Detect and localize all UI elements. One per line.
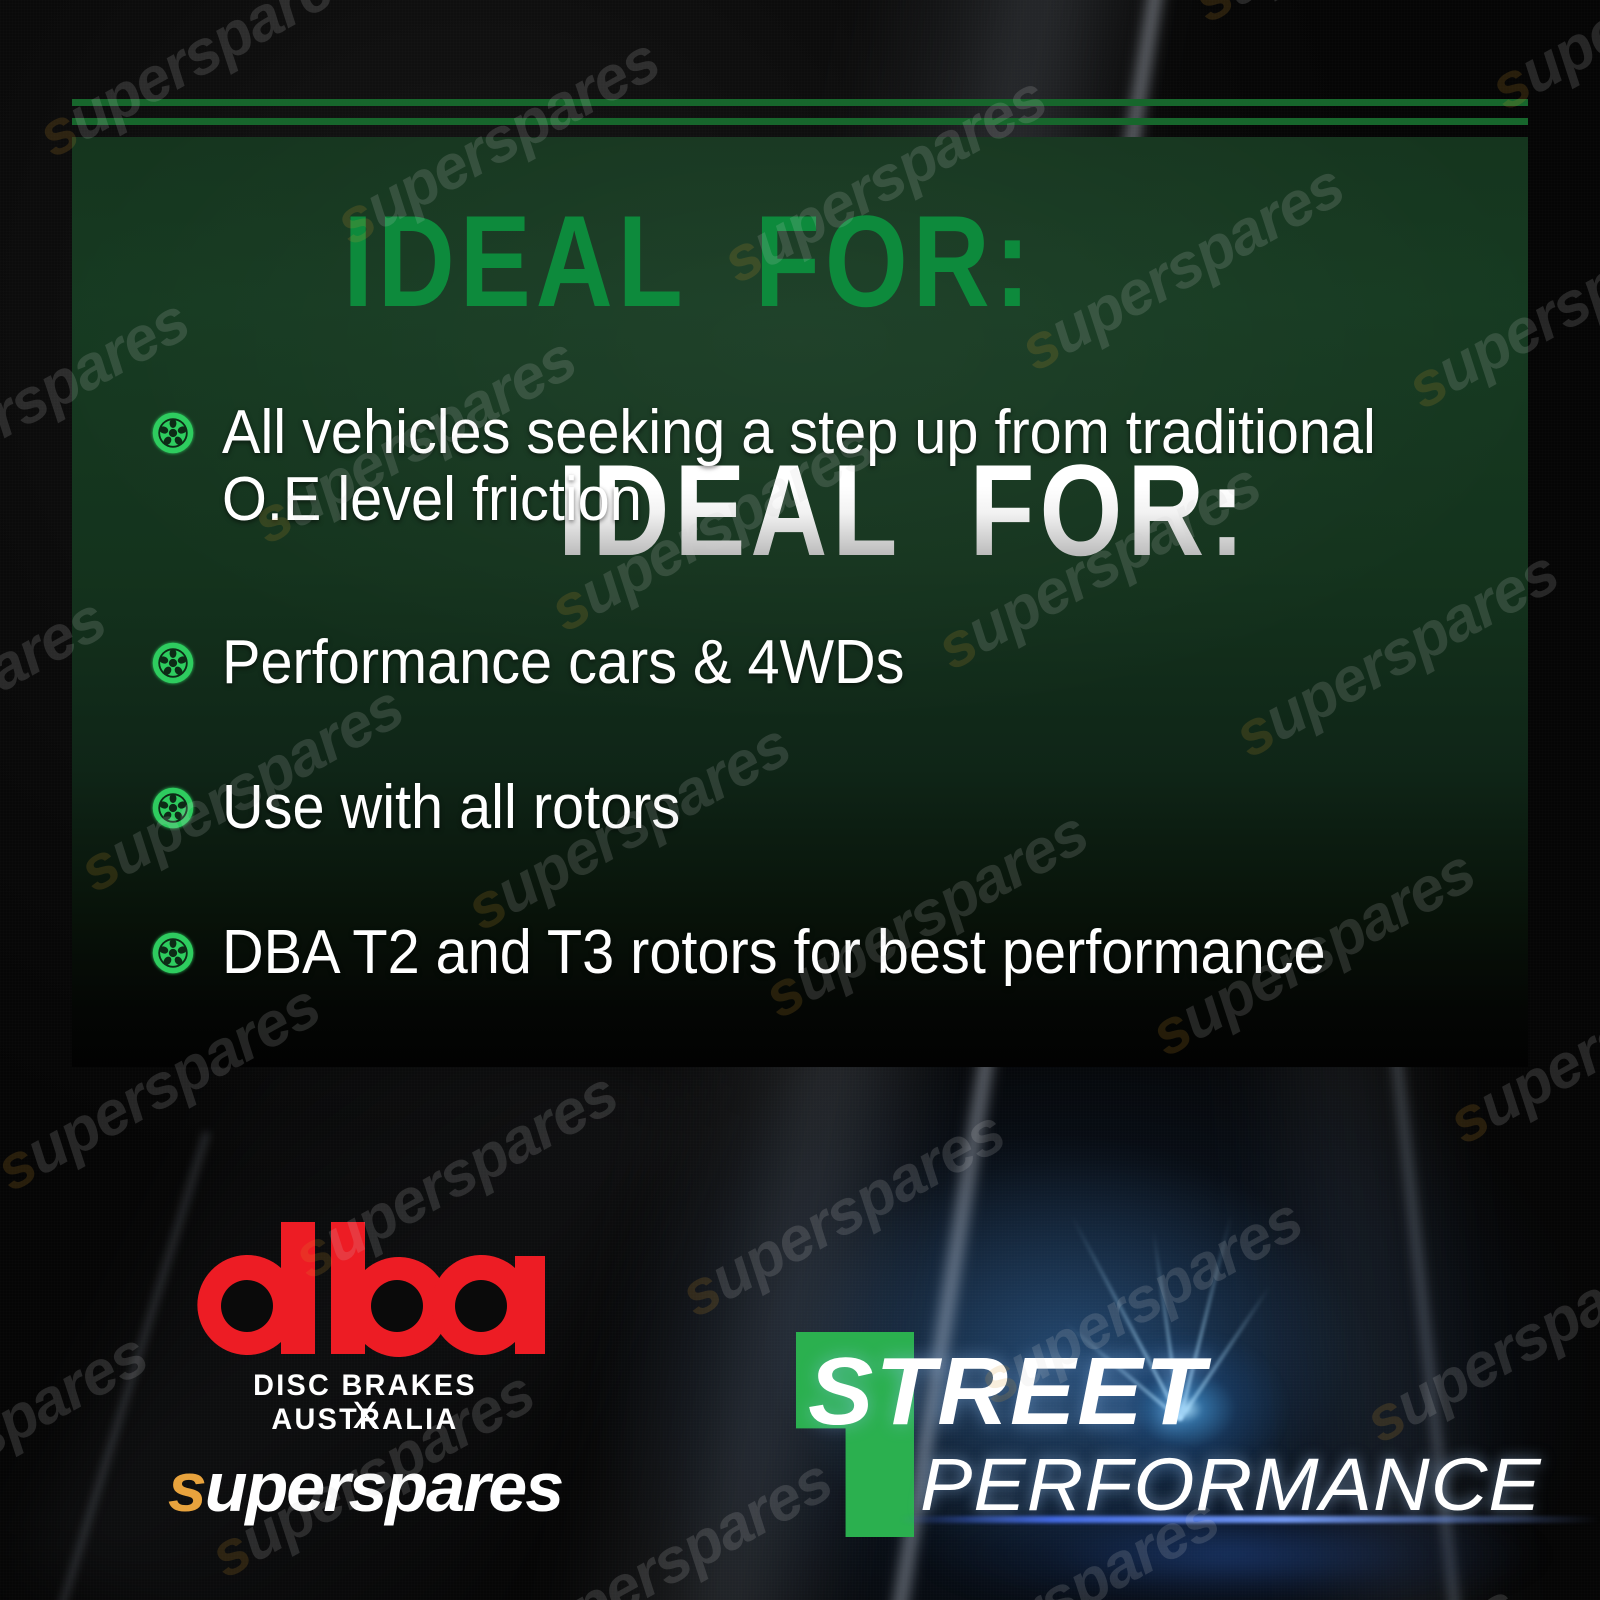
- street-performance-logo: STREET PERFORMANCE: [780, 1320, 1550, 1550]
- wheel-icon: [150, 930, 196, 976]
- wheel-icon: [150, 410, 196, 456]
- promo-graphic: IDEAL FOR: IDEAL FOR:: [0, 0, 1600, 1600]
- performance-text: PERFORMANCE: [920, 1448, 1542, 1522]
- list-item-label: Use with all rotors: [222, 775, 680, 842]
- list-item: All vehicles seeking a step up from trad…: [150, 400, 1530, 534]
- wheel-icon: [150, 785, 196, 831]
- wheel-icon: [150, 640, 196, 686]
- dba-wordmark: [175, 1218, 555, 1363]
- title-shadow: IDEAL FOR:: [343, 196, 1035, 326]
- superspares-accent-letter: s: [168, 1448, 205, 1526]
- collab-symbol: X: [175, 1395, 555, 1438]
- superspares-wordmark: uperspares: [205, 1448, 562, 1526]
- superspares-logo: superspares: [150, 1452, 580, 1522]
- list-item-label: All vehicles seeking a step up from trad…: [222, 400, 1438, 534]
- top-rule-2: [72, 118, 1528, 125]
- list-item: Use with all rotors: [150, 775, 1530, 842]
- list-item: DBA T2 and T3 rotors for best performanc…: [150, 920, 1530, 987]
- bullet-list: All vehicles seeking a step up from trad…: [150, 400, 1530, 987]
- list-item: Performance cars & 4WDs: [150, 630, 1530, 697]
- top-rule-1: [72, 99, 1528, 106]
- street-text: STREET: [808, 1344, 1207, 1440]
- list-item-label: DBA T2 and T3 rotors for best performanc…: [222, 920, 1326, 987]
- list-item-label: Performance cars & 4WDs: [222, 630, 904, 697]
